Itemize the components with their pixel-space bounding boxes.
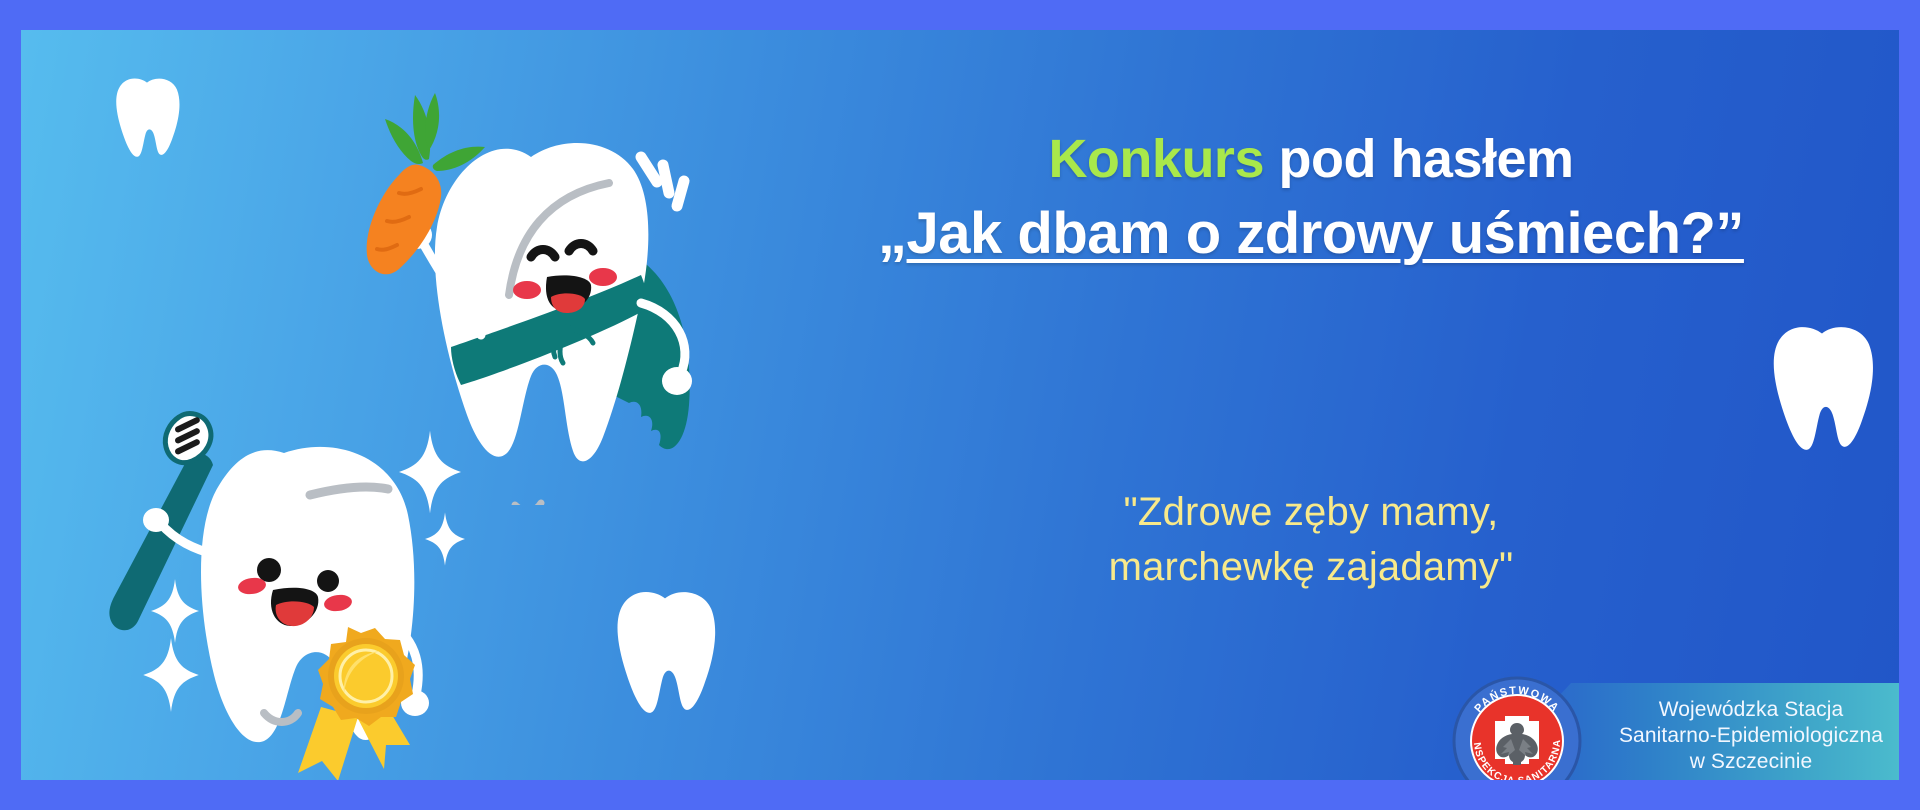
poster-frame: Konkurs pod hasłem „Jak dbam o zdrowy uś… (0, 0, 1920, 810)
headline-underlined-title: Jak dbam o zdrowy uśmiech?” (907, 201, 1744, 266)
logo-lockup: Wojewódzka Stacja Sanitarno-Epidemiologi… (1451, 675, 1899, 780)
left-eye (531, 250, 555, 258)
headline-block: Konkurs pod hasłem „Jak dbam o zdrowy uś… (781, 125, 1841, 270)
left-hand (143, 508, 169, 532)
slogan-line-2: marchewkę zajadamy" (781, 540, 1841, 595)
institution-line-3: w Szczecinie (1591, 749, 1899, 775)
speed-lines-icon (641, 157, 684, 206)
headline-rest: pod hasłem (1264, 129, 1574, 189)
right-blush (589, 268, 617, 286)
tooth-bottom-crease (515, 503, 541, 505)
headline-accent-word: Konkurs (1048, 129, 1264, 189)
tooth-silhouette-icon (113, 77, 181, 159)
headline-line-1: Konkurs pod hasłem (781, 125, 1841, 194)
slogan-block: "Zdrowe zęby mamy, marchewkę zajadamy" (781, 485, 1841, 595)
tooth-silhouette-icon (1766, 325, 1878, 453)
tooth-silhouette-icon (611, 590, 719, 716)
institution-line-2: Sanitarno-Epidemiologiczna (1591, 723, 1899, 749)
right-eye (317, 570, 339, 592)
open-quote: „ (878, 201, 907, 266)
left-blush (513, 281, 541, 299)
sanitary-inspection-seal-icon: PAŃSTWOWA INSPEKCJA SANITARNA (1451, 675, 1583, 780)
headline-line-2: „Jak dbam o zdrowy uśmiech?” (781, 198, 1841, 270)
slogan-line-1: "Zdrowe zęby mamy, (781, 485, 1841, 540)
institution-line-1: Wojewódzka Stacja (1591, 697, 1899, 723)
poster-canvas: Konkurs pod hasłem „Jak dbam o zdrowy uś… (21, 30, 1899, 780)
right-hand (662, 367, 692, 395)
left-eye (257, 558, 281, 582)
medal-tooth-character (76, 395, 496, 780)
institution-name: Wojewódzka Stacja Sanitarno-Epidemiologi… (1591, 697, 1899, 775)
carrot-leaves (385, 93, 485, 171)
